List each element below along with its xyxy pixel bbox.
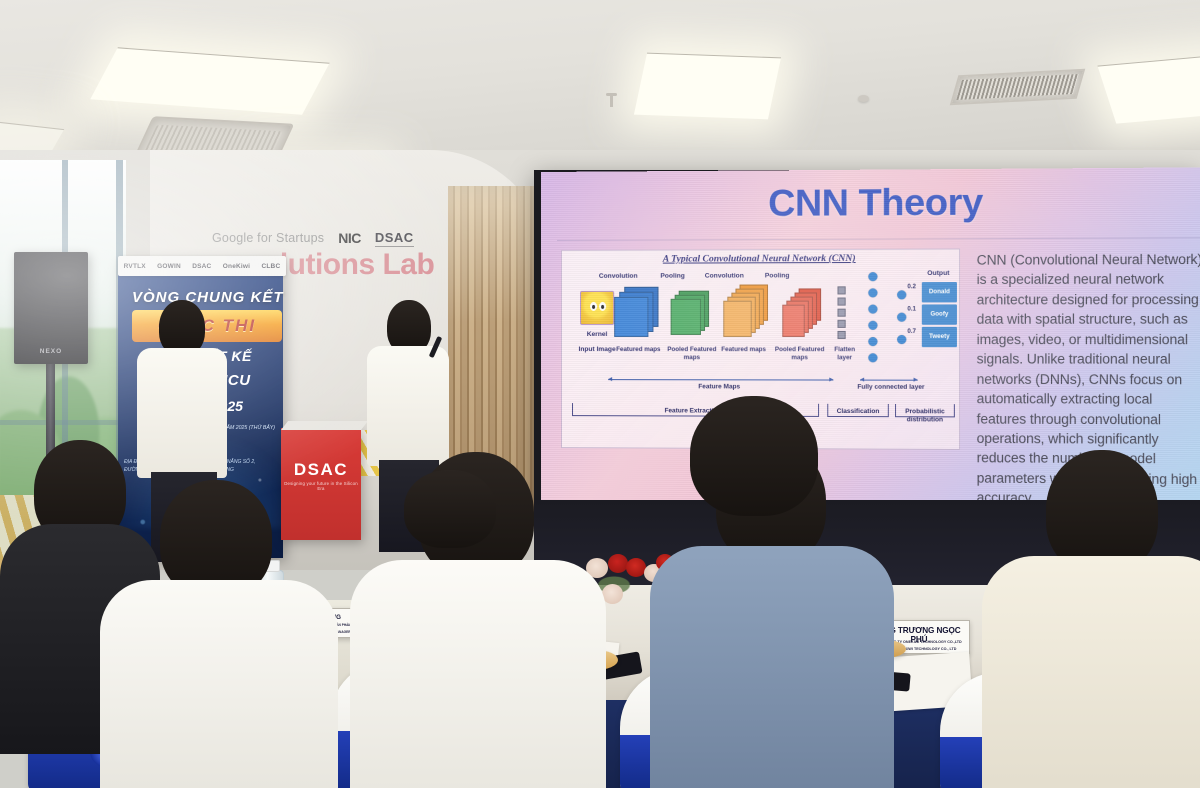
probability-value-goofy: 0.1 <box>907 307 916 313</box>
stage-label-convolution-1: Convolution <box>590 273 646 281</box>
fully-connected-output-nodes <box>562 249 959 250</box>
feature-map-stack-blue <box>612 287 666 343</box>
ceiling-light-panel <box>90 47 329 114</box>
google-for-startups-logo: Google for Startups <box>212 231 324 245</box>
podium-top-surface <box>281 421 368 430</box>
red-rose <box>626 558 646 577</box>
slide-title-divider <box>557 237 1200 241</box>
slide-title: CNN Theory <box>541 180 1200 226</box>
stage-label-pooling-1: Pooling <box>650 273 694 281</box>
partner-logo: GOWIN <box>157 263 181 270</box>
pa-speaker-cabinet: NEXO <box>14 252 88 364</box>
speaker-brand-label: NEXO <box>14 348 88 355</box>
pooled-feature-map-stack-red <box>776 288 833 347</box>
person-shoulders <box>650 546 894 788</box>
smoke-detector <box>858 95 869 102</box>
person-shirt <box>367 346 449 466</box>
fully-connected-hidden-nodes <box>562 249 959 250</box>
audience-member-cream-shirt <box>1002 450 1200 788</box>
podium-logo-text: DSAC <box>281 460 361 480</box>
probability-value-tweety: 0.7 <box>907 329 916 335</box>
bracket-label-probabilistic-distribution: Probabilistic distribution <box>893 408 957 424</box>
partner-logo: RVTLX <box>124 263 146 270</box>
fully-connected-span-arrow <box>860 380 918 381</box>
solutions-lab-wall-text: olutions Lab <box>262 248 434 282</box>
partner-logo: CLBC <box>261 263 280 270</box>
audience-member-head-foreground <box>690 396 818 516</box>
person-shoulders <box>982 556 1200 788</box>
ceiling-light-panel <box>634 53 781 120</box>
feature-maps-span-arrow <box>608 379 833 380</box>
person-shoulders <box>350 560 606 788</box>
banner-partner-logo-strip: RVTLX GOWIN DSAC OneKiwi CLBC <box>118 256 286 276</box>
feature-map-stack-orange <box>719 284 776 347</box>
input-image-thumbnail <box>580 291 614 325</box>
red-rose <box>608 554 628 573</box>
bracket-label-classification: Classification <box>823 408 893 416</box>
probability-value-donald: 0.2 <box>907 284 916 290</box>
ceiling <box>0 0 1200 175</box>
conference-room-photo: Google for Startups NIC DSAC olutions La… <box>0 0 1200 788</box>
layer-label-pooled-featured-maps-1: Pooled Featured maps <box>663 346 722 362</box>
output-label: Output <box>920 270 957 278</box>
output-class-goofy: Goofy <box>922 304 957 324</box>
layer-label-featured-maps-1: Featured maps <box>610 346 666 354</box>
sprinkler-head <box>610 95 613 107</box>
span-label-feature-maps: Feature Maps <box>659 383 781 391</box>
output-class-donald: Donald <box>922 282 957 302</box>
layer-label-featured-maps-2: Featured maps <box>715 346 772 354</box>
stage-label-pooling-2: Pooling <box>754 272 801 280</box>
output-class-tweety: Tweety <box>922 327 957 347</box>
ac-vent-grille <box>950 69 1085 106</box>
stage-label-convolution-2: Convolution <box>696 272 753 280</box>
partner-logo: OneKiwi <box>223 263 250 270</box>
diagram-title: A Typical Convolutional Neural Network (… <box>562 254 959 265</box>
person-shirt <box>137 348 227 478</box>
flatten-layer-column <box>562 249 959 250</box>
layer-label-pooled-featured-maps-2: Pooled Featured maps <box>768 346 831 362</box>
white-rose <box>602 584 623 604</box>
audience-member-white-shirt <box>118 480 318 788</box>
layer-label-flatten: Flatten layer <box>827 346 862 362</box>
person-head <box>690 396 818 516</box>
nic-logo: NIC <box>338 230 361 246</box>
ceiling-light-panel <box>1097 54 1200 123</box>
dsac-logo: DSAC <box>375 230 414 247</box>
window-mullion <box>0 420 126 425</box>
person-head <box>404 470 496 548</box>
person-shoulders <box>100 580 338 788</box>
pooled-feature-map-stack-green <box>669 291 718 343</box>
partner-logo: DSAC <box>192 263 211 270</box>
span-label-fully-connected: Fully connected layer <box>842 384 941 392</box>
audience-member-head-foreground <box>404 470 496 548</box>
